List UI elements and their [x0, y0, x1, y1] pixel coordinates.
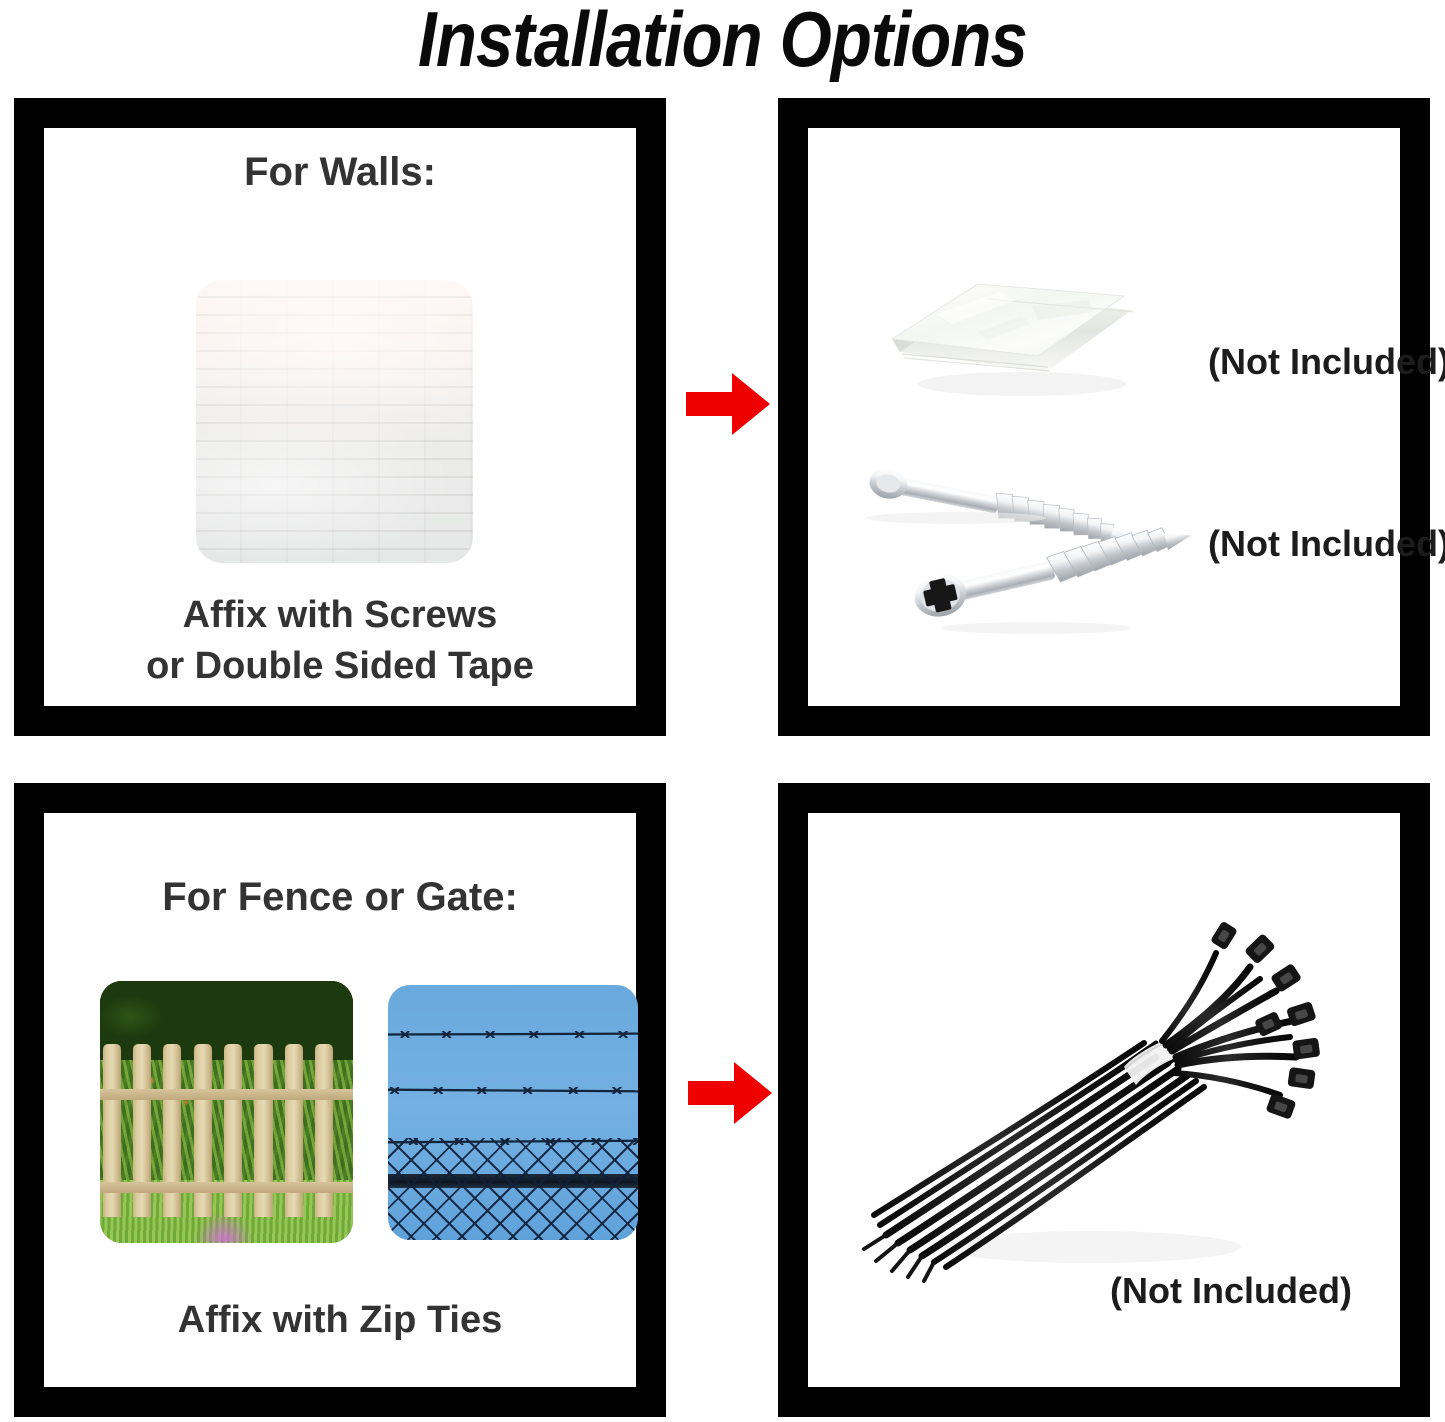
- panel-fence-caption: Affix with Zip Ties: [44, 1295, 636, 1346]
- brick-whitewash-overlay: [196, 280, 473, 563]
- picket-layer: [100, 1044, 353, 1217]
- barbed-wire-strand: [388, 1031, 638, 1038]
- panel-fence-hardware: (Not Included): [778, 783, 1430, 1417]
- screws-not-included-label: (Not Included): [1208, 523, 1445, 565]
- caption-line-2: or Double Sided Tape: [44, 641, 636, 692]
- fence-rail-lower: [100, 1182, 353, 1193]
- wood-screws-image: [836, 458, 1196, 638]
- page-title: Installation Options: [101, 0, 1344, 85]
- chain-link-mesh: [388, 1138, 638, 1240]
- chain-link-barbed-wire-fence-image: [388, 985, 638, 1240]
- fence-rail-upper: [100, 1089, 353, 1100]
- panel-walls-heading: For Walls:: [44, 150, 636, 195]
- caption-line-1: Affix with Screws: [44, 590, 636, 641]
- panel-for-fence-or-gate: For Fence or Gate:: [14, 783, 666, 1417]
- wooden-picket-fence-image: [100, 981, 353, 1243]
- panel-fence-heading: For Fence or Gate:: [44, 875, 636, 920]
- panel-wall-hardware: (Not Included): [778, 98, 1430, 736]
- double-sided-tape-stack-image: [882, 244, 1142, 404]
- barbed-wire-strand: [388, 1087, 638, 1094]
- arrow-right-icon-bottom: [686, 1057, 774, 1129]
- ziptie-not-included-label: (Not Included): [1110, 1270, 1352, 1312]
- panel-for-walls: For Walls: Affix with Screws or Double S…: [14, 98, 666, 736]
- panel-walls-caption: Affix with Screws or Double Sided Tape: [44, 590, 636, 693]
- tape-not-included-label: (Not Included): [1208, 341, 1445, 383]
- white-brick-wall-image: [196, 280, 473, 563]
- arrow-right-icon-top: [684, 368, 772, 440]
- black-zip-tie-bundle-image: [856, 917, 1326, 1287]
